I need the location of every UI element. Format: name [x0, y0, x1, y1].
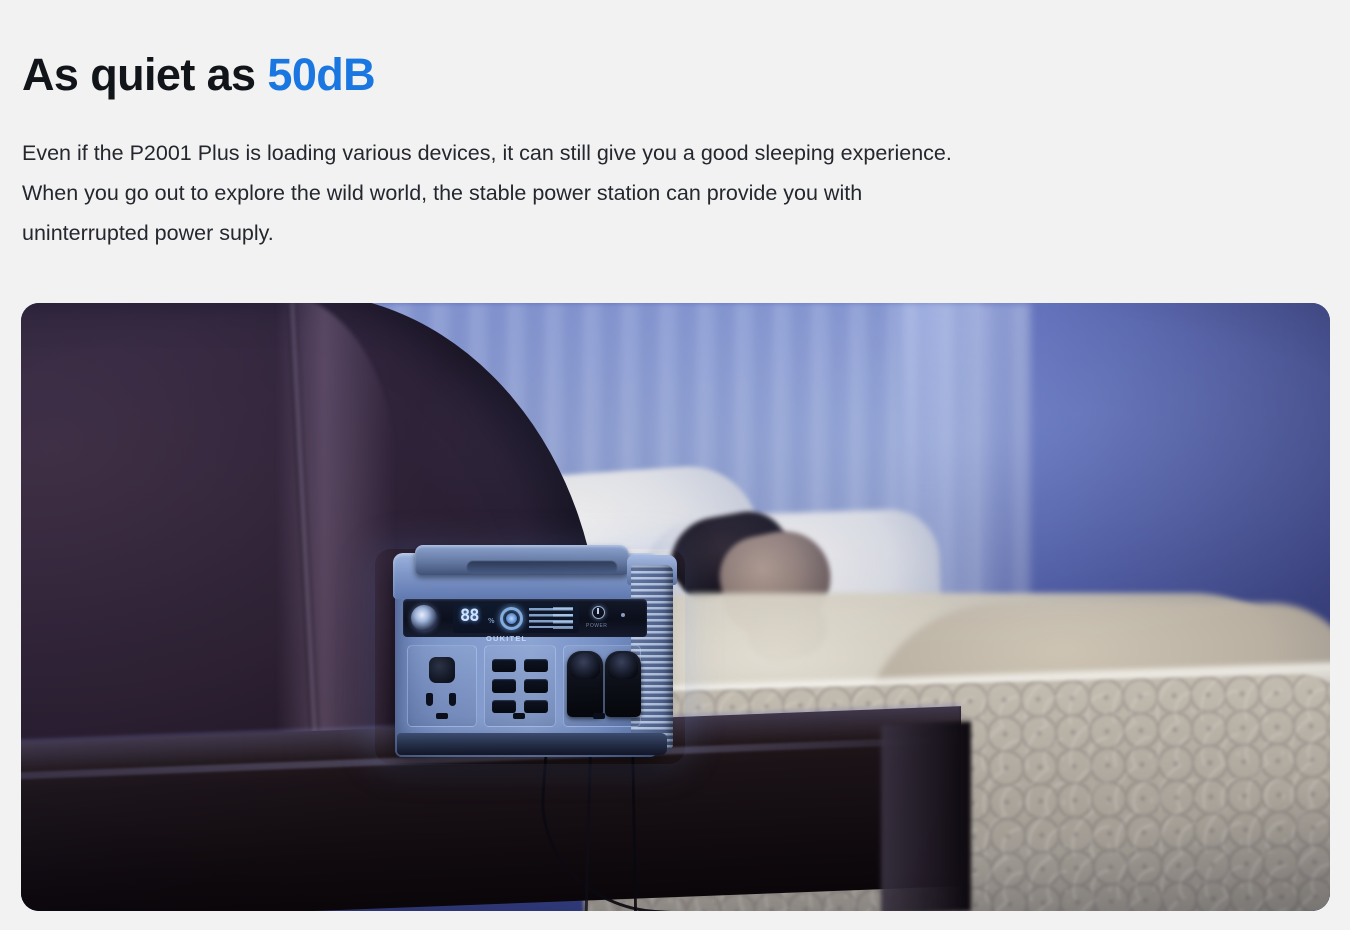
brand-logo: OUKITEL: [486, 634, 527, 643]
ac-socket-pin-right: [449, 693, 456, 706]
usb-port: [492, 679, 516, 692]
usb-port: [524, 700, 548, 713]
inserted-plug-right: [605, 651, 641, 717]
indicator-port-2: [513, 713, 525, 719]
ac-socket-pin-left: [426, 693, 433, 706]
station-lcd-display: 88 %: [453, 603, 579, 633]
bedroom-scene: 88 % OUKITEL POWER: [21, 303, 1330, 911]
usb-port: [524, 679, 548, 692]
lcd-gauge-center: [506, 613, 517, 624]
station-base: [397, 733, 667, 755]
product-feature-page: As quiet as 50dB Even if the P2001 Plus …: [0, 0, 1350, 930]
page-title-highlight: 50dB: [267, 49, 375, 100]
power-button-label: POWER: [586, 623, 607, 629]
status-led: [621, 613, 625, 617]
usb-port-grid: [492, 659, 548, 713]
power-button-icon[interactable]: [592, 606, 605, 619]
battery-percent-value: 88: [460, 608, 478, 625]
description-line-1: Even if the P2001 Plus is loading variou…: [22, 133, 1212, 173]
battery-percent-unit: %: [488, 617, 495, 625]
flashlight-icon: [411, 605, 437, 631]
handle-grip-notch: [467, 561, 617, 574]
lcd-status-bars-secondary: [553, 607, 573, 629]
portable-power-station: 88 % OUKITEL POWER: [389, 535, 685, 757]
plug-head: [608, 653, 638, 679]
usb-port: [492, 659, 516, 672]
description-text: Even if the P2001 Plus is loading variou…: [22, 133, 1212, 253]
page-title: As quiet as 50dB: [22, 50, 375, 100]
ac-socket-icon: [429, 657, 455, 683]
indicator-port-3: [593, 713, 605, 719]
plug-head: [570, 653, 600, 679]
page-title-prefix: As quiet as: [22, 49, 267, 100]
indicator-port-1: [436, 713, 448, 719]
station-carry-handle: [415, 545, 629, 575]
inserted-plug-left: [567, 651, 603, 717]
lifestyle-photo: 88 % OUKITEL POWER: [21, 303, 1330, 911]
usb-port: [492, 700, 516, 713]
usb-port: [524, 659, 548, 672]
description-line-2: When you go out to explore the wild worl…: [22, 173, 1212, 213]
nightstand-right-corner: [881, 721, 971, 911]
description-line-3: uninterrupted power suply.: [22, 213, 1212, 253]
